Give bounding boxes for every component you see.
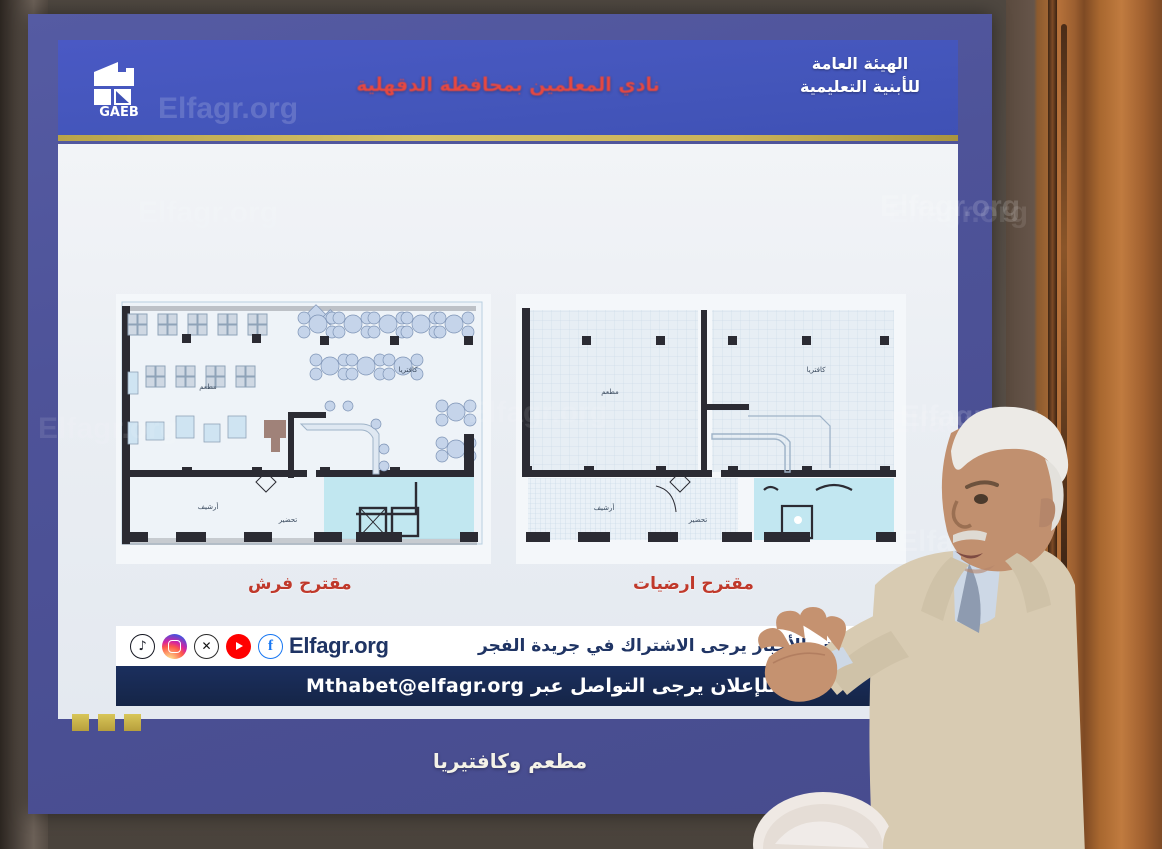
presenter-figure	[755, 395, 1085, 849]
social-icons: ♪ ✕ f	[116, 634, 283, 659]
svg-text:مطعم: مطعم	[601, 388, 619, 396]
slide-subject-title: نادي المعلمين بمحافظة الدقهلية	[356, 74, 660, 96]
slide-header-band: GAEB الهيئة العامة للأبنية التعليمية ناد…	[58, 40, 958, 135]
promo-brand-text: Elfagr.org	[283, 633, 397, 659]
svg-text:كافتريا: كافتريا	[807, 366, 827, 374]
contact-text: للإعلان يرجى التواصل عبر Mthabet@elfagr.…	[306, 675, 776, 697]
caption-flooring-plan: مقترح ارضيات	[633, 574, 754, 594]
authority-line-2: للأبنية التعليمية	[800, 75, 920, 98]
youtube-icon[interactable]	[226, 634, 251, 659]
floor-plan-furniture: مطعم كافتريا أرشيف تحضير	[116, 294, 491, 564]
facebook-icon[interactable]: f	[258, 634, 283, 659]
authority-line-1: الهيئة العامة	[800, 52, 920, 75]
svg-text:تحضير: تحضير	[688, 516, 708, 524]
screenshot-root: GAEB الهيئة العامة للأبنية التعليمية ناد…	[0, 0, 1162, 849]
x-icon[interactable]: ✕	[194, 634, 219, 659]
tiktok-icon[interactable]: ♪	[130, 634, 155, 659]
gaeb-logo-icon: GAEB	[88, 56, 150, 118]
authority-title: الهيئة العامة للأبنية التعليمية	[800, 52, 920, 98]
svg-text:مطعم: مطعم	[199, 383, 217, 391]
caption-furniture-plan: مقترح فرش	[248, 574, 352, 594]
gold-accent-squares	[72, 714, 141, 731]
svg-text:GAEB: GAEB	[99, 105, 139, 118]
svg-text:كافتريا: كافتريا	[399, 366, 419, 374]
svg-text:تحضير: تحضير	[278, 516, 298, 524]
svg-text:أرشيف: أرشيف	[198, 502, 219, 511]
audience-attendee	[745, 782, 925, 849]
instagram-icon[interactable]	[162, 634, 187, 659]
svg-text:أرشيف: أرشيف	[594, 503, 615, 512]
